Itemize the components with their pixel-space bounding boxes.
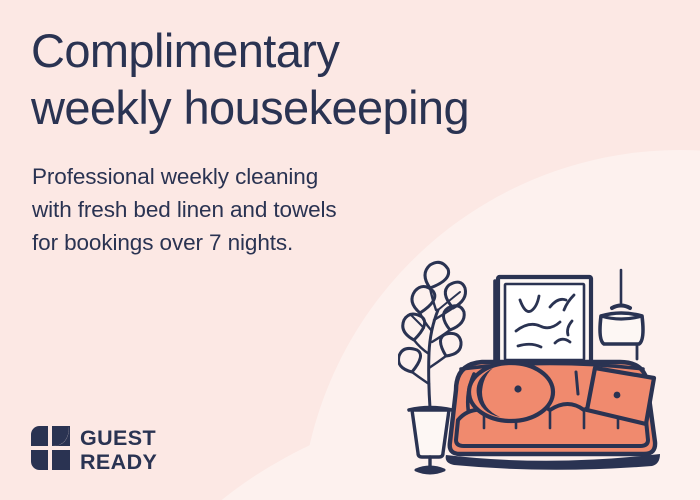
brand-wordmark: GUEST READY [80, 428, 157, 474]
brand-name-line-2: READY [80, 452, 157, 474]
guest-ready-logo-mark-icon [31, 426, 70, 475]
round-cushion [469, 363, 553, 421]
subtitle-text: Professional weekly cleaning with fresh … [32, 160, 452, 259]
pendant-lamp [600, 270, 643, 359]
brand-logo[interactable]: GUEST READY [31, 426, 157, 475]
page-title: Complimentary weekly housekeeping [31, 22, 651, 136]
framed-picture [495, 277, 591, 370]
brand-name-line-1: GUEST [80, 428, 157, 450]
promo-card: Complimentary weekly housekeeping Profes… [0, 0, 700, 500]
living-room-illustration: Living room scene with potted plant, fra… [398, 258, 700, 500]
